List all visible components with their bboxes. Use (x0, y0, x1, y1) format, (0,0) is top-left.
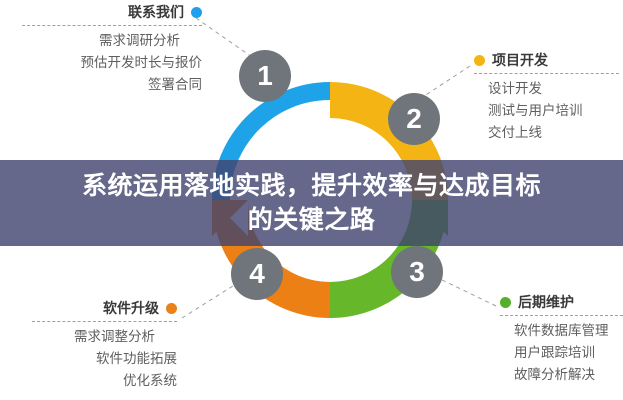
headline-line-1: 系统运用落地实践，提升效率与达成目标 (82, 172, 541, 200)
block-dev-title: 项目开发 (492, 50, 548, 70)
block-upgrade-item: 需求调整分析 (32, 326, 177, 348)
block-maintenance-header: 后期维护 (500, 292, 623, 315)
infographic-canvas: 1 2 3 4 联系我们 需求调研分析 预估开发时长与报价 签署合同 项目开发 … (0, 0, 623, 400)
block-maintenance-item: 用户跟踪培训 (500, 342, 623, 364)
block-dev: 项目开发 设计开发 测试与用户培训 交付上线 (474, 50, 619, 144)
block-upgrade-header: 软件升级 (32, 298, 177, 321)
bullet-dot-icon (500, 297, 511, 308)
block-contact-item: 预估开发时长与报价 (22, 52, 202, 74)
bullet-dot-icon (474, 55, 485, 66)
bullet-dot-icon (191, 7, 202, 18)
block-maintenance-title: 后期维护 (518, 292, 574, 312)
step-badge-1[interactable]: 1 (239, 50, 291, 102)
bullet-dot-icon (166, 303, 177, 314)
block-upgrade-item: 优化系统 (32, 370, 177, 392)
block-maintenance-item: 软件数据库管理 (500, 320, 623, 342)
block-contact-item: 签署合同 (22, 74, 202, 96)
step-badge-3[interactable]: 3 (391, 246, 443, 298)
block-contact-divider (22, 25, 202, 26)
headline-text: 系统运用落地实践，提升效率与达成目标 的关键之路 (29, 169, 595, 237)
block-contact-title: 联系我们 (128, 2, 184, 22)
block-dev-item: 交付上线 (474, 122, 619, 144)
block-contact-header: 联系我们 (22, 2, 202, 25)
headline-line-2: 的关键之路 (29, 203, 595, 237)
block-upgrade: 软件升级 需求调整分析 软件功能拓展 优化系统 (32, 298, 177, 392)
block-maintenance: 后期维护 软件数据库管理 用户跟踪培训 故障分析解决 (500, 292, 623, 386)
block-dev-item: 测试与用户培训 (474, 100, 619, 122)
step-badge-4[interactable]: 4 (231, 248, 283, 300)
block-maintenance-divider (500, 315, 623, 316)
headline-banner: 系统运用落地实践，提升效率与达成目标 的关键之路 (0, 160, 623, 246)
step-badge-2[interactable]: 2 (388, 93, 440, 145)
block-dev-item: 设计开发 (474, 78, 619, 100)
block-contact-item: 需求调研分析 (22, 30, 202, 52)
block-dev-divider (474, 73, 619, 74)
block-upgrade-title: 软件升级 (103, 298, 159, 318)
block-contact: 联系我们 需求调研分析 预估开发时长与报价 签署合同 (22, 2, 202, 96)
block-upgrade-divider (32, 321, 177, 322)
block-upgrade-item: 软件功能拓展 (32, 348, 177, 370)
block-dev-header: 项目开发 (474, 50, 619, 73)
block-maintenance-item: 故障分析解决 (500, 364, 623, 386)
